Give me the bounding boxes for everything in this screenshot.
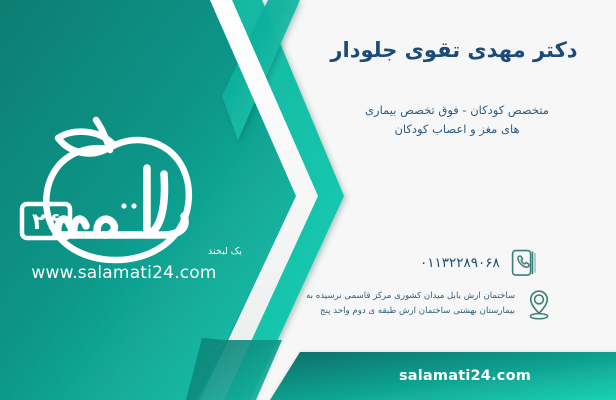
address-line-1: ساختمان ارش بابل میدان کشوری مرکز قاسمی …	[306, 289, 515, 304]
logo-website: www.salamati24.com	[31, 263, 216, 283]
phone-row[interactable]: ۰۱۱۳۲۲۸۹۰۶۸	[420, 246, 600, 280]
specialty-line-1: متخصص کودکان - فوق تخصص بیماری	[318, 101, 596, 120]
address-row[interactable]: ساختمان ارش بابل میدان کشوری مرکز قاسمی …	[306, 286, 600, 328]
footer-website-url[interactable]: salamati24.com	[330, 368, 600, 384]
phone-book-icon	[509, 247, 539, 279]
salamati24-logo: ۲۴ به راحتی یک لبخند www.salamati24.com	[12, 108, 244, 283]
business-card: ۲۴ به راحتی یک لبخند www.salamati24.com …	[0, 0, 616, 400]
specialty-line-2: های مغز و اعصاب کودکان	[318, 120, 596, 139]
address-text: ساختمان ارش بابل میدان کشوری مرکز قاسمی …	[306, 286, 515, 319]
brand-wordmark	[56, 168, 185, 235]
badge-24-label: ۲۴	[32, 209, 60, 235]
phone-number[interactable]: ۰۱۱۳۲۲۸۹۰۶۸	[420, 255, 500, 271]
map-pin-icon	[524, 289, 554, 321]
address-line-2: بیمارستان بهشتی ساختمان ارش طبقه ی دوم و…	[306, 304, 515, 319]
logo-tagline: به راحتی یک لبخند	[208, 246, 244, 257]
card-content: دکتر مهدی تقوی جلودار متخصص کودکان - فوق…	[300, 0, 616, 400]
doctor-name: دکتر مهدی تقوی جلودار	[310, 36, 598, 64]
doctor-specialty: متخصص کودکان - فوق تخصص بیماری های مغز و…	[318, 101, 596, 138]
